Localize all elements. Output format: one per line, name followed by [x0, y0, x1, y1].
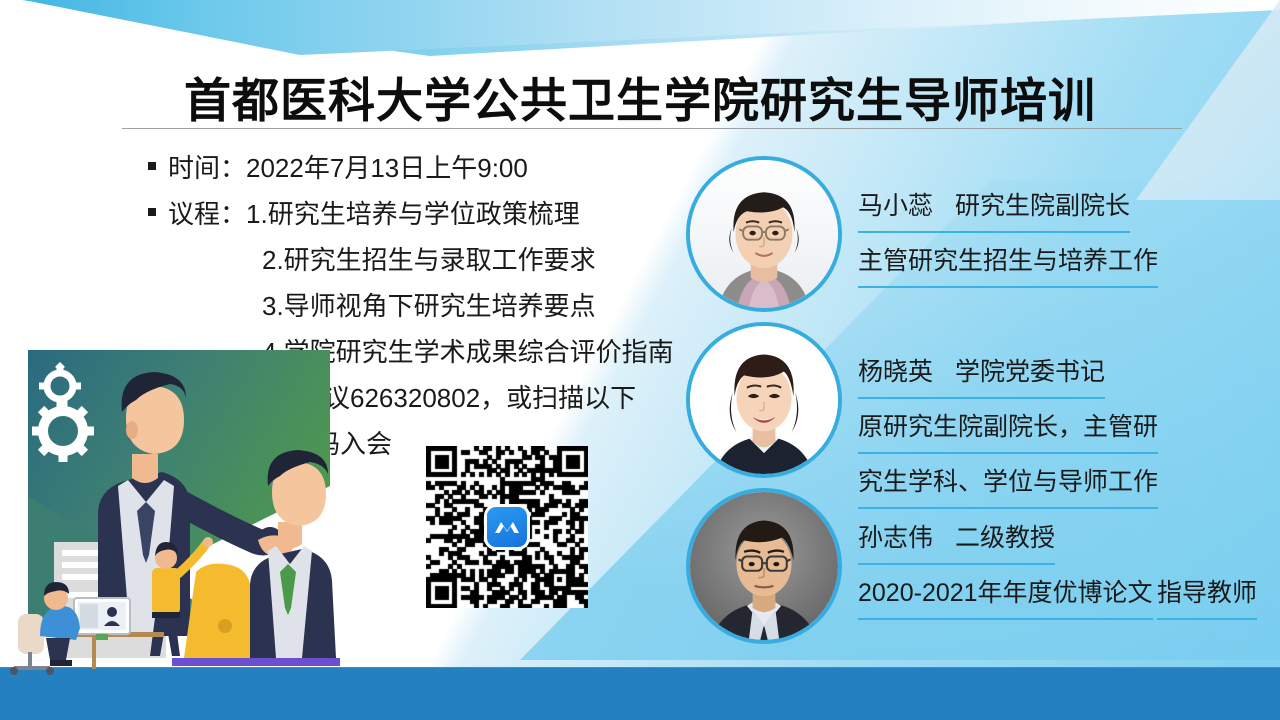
speaker-2-title: 学院党委书记 — [955, 358, 1105, 386]
speaker-1-title: 研究生院副院长 — [955, 192, 1130, 220]
portrait-yang-xiaoying — [686, 322, 842, 478]
portrait-ma-xiaorui — [686, 156, 842, 312]
page-title: 首都医科大学公共卫生学院研究生导师培训 — [0, 62, 1280, 131]
info-row-agenda-2: 2.研究生招生与录取工作要求 — [148, 238, 708, 282]
tencent-meeting-qr-code[interactable] — [426, 446, 588, 608]
bullet-square-icon — [148, 162, 156, 170]
speaker-2-headline: 杨晓英学院党委书记 — [858, 348, 1105, 399]
agenda-item-1: 1.研究生培养与学位政策梳理 — [246, 192, 580, 236]
agenda-item-2: 2.研究生招生与录取工作要求 — [168, 238, 596, 282]
speaker-1-detail-1: 主管研究生招生与培养工作 — [858, 237, 1158, 288]
speaker-3-name: 孙志伟 — [858, 524, 933, 552]
speaker-1-headline: 马小蕊研究生院副院长 — [858, 182, 1130, 233]
speaker-2-name: 杨晓英 — [858, 358, 933, 386]
time-value: 2022年7月13日上午9:00 — [246, 146, 528, 190]
speaker-card-2: 杨晓英学院党委书记 原研究生院副院长，主管研 究生学科、学位与导师工作 — [686, 322, 1280, 509]
presentation-slide: 首都医科大学公共卫生学院研究生导师培训 时间： 2022年7月13日上午9:00… — [0, 0, 1280, 720]
portrait-sun-zhiwei — [686, 488, 842, 644]
speaker-3-detail-2: 指导教师 — [1157, 569, 1257, 620]
agenda-label: 议程： — [168, 192, 246, 236]
info-row-agenda: 议程： 1.研究生培养与学位政策梳理 — [148, 192, 708, 236]
speaker-2-text: 杨晓英学院党委书记 原研究生院副院长，主管研 究生学科、学位与导师工作 — [858, 322, 1280, 509]
bullet-square-icon — [148, 208, 156, 216]
business-meeting-illustration — [0, 346, 360, 676]
speaker-3-detail-1: 2020-2021年年度优博论文 — [858, 569, 1153, 620]
speaker-card-3: 孙志伟二级教授 2020-2021年年度优博论文 指导教师 — [686, 488, 1280, 644]
title-divider — [122, 128, 1182, 129]
tencent-meeting-logo-icon — [487, 507, 527, 547]
speaker-3-headline: 孙志伟二级教授 — [858, 514, 1055, 565]
speaker-1-text: 马小蕊研究生院副院长 主管研究生招生与培养工作 — [858, 156, 1280, 288]
info-row-agenda-3: 3.导师视角下研究生培养要点 — [148, 284, 708, 328]
speaker-1-name: 马小蕊 — [858, 192, 933, 220]
info-row-time: 时间： 2022年7月13日上午9:00 — [148, 146, 708, 190]
speaker-2-detail-1: 原研究生院副院长，主管研 — [858, 403, 1158, 454]
agenda-item-3: 3.导师视角下研究生培养要点 — [168, 284, 596, 328]
speaker-3-title: 二级教授 — [955, 524, 1055, 552]
speaker-3-text: 孙志伟二级教授 2020-2021年年度优博论文 指导教师 — [858, 488, 1280, 620]
speaker-card-1: 马小蕊研究生院副院长 主管研究生招生与培养工作 — [686, 156, 1280, 312]
time-label: 时间： — [168, 146, 246, 190]
